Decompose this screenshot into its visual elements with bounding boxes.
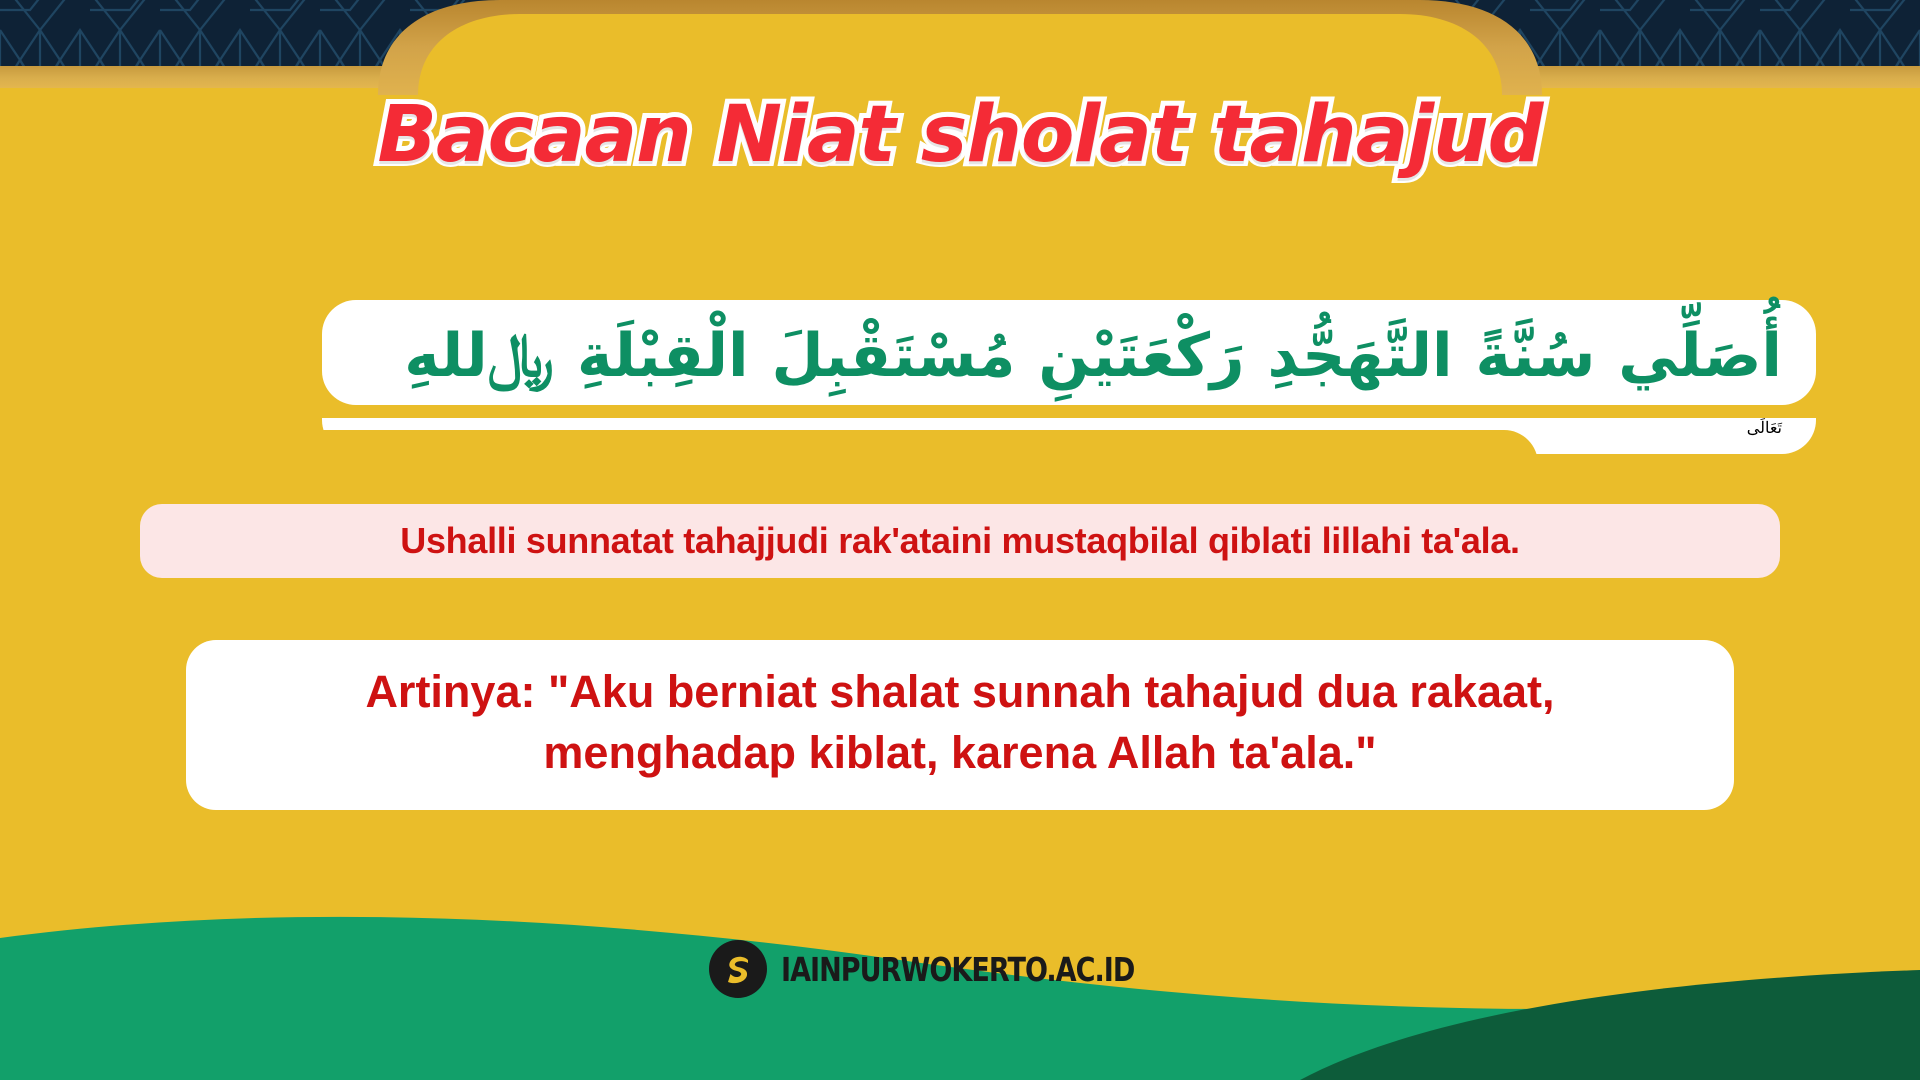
gold-arch [0, 0, 1920, 95]
page-title: Bacaan Niat sholat tahajud [0, 96, 1920, 174]
footer-branding: IAINPURWOKERTO.AC.ID [0, 940, 1920, 998]
footer-site-label: IAINPURWOKERTO.AC.ID [781, 950, 1134, 989]
meaning-line-2: menghadap kiblat, karena Allah ta'ala." [226, 723, 1694, 784]
meaning-card: Artinya: "Aku berniat shalat sunnah taha… [186, 640, 1734, 810]
arabic-niat-card: أُصَلِّي سُنَّةً التَّهَجُّدِ رَكْعَتَيْ… [322, 300, 1816, 405]
poster-canvas: Bacaan Niat sholat tahajud تَعَالَى أُصَ… [0, 0, 1920, 1080]
transliteration-bar: Ushalli sunnatat tahajjudi rak'ataini mu… [140, 504, 1780, 578]
background-notch [138, 430, 1538, 508]
swoosh-logo-icon [709, 940, 767, 998]
arabic-line-1: أُصَلِّي سُنَّةً التَّهَجُّدِ رَكْعَتَيْ… [404, 321, 1782, 391]
arabic-line-2: تَعَالَى [1747, 420, 1782, 437]
meaning-line-1: Artinya: "Aku berniat shalat sunnah taha… [365, 666, 1554, 717]
